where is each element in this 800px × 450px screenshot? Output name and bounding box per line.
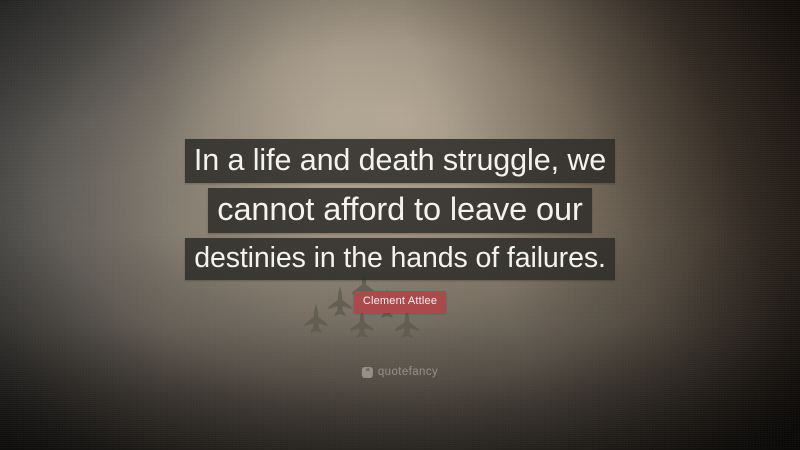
quote-line: cannot afford to leave our bbox=[208, 188, 591, 233]
quotefancy-logo-icon: ❝ bbox=[362, 367, 373, 378]
quote-line: In a life and death struggle, we bbox=[185, 139, 615, 183]
watermark-label: quotefancy bbox=[378, 366, 438, 378]
watermark: ❝ quotefancy bbox=[362, 366, 438, 378]
quote-text-block: In a life and death struggle, we cannot … bbox=[0, 139, 800, 285]
quote-line: destinies in the hands of failures. bbox=[185, 238, 615, 280]
author-attribution-badge: Clement Attlee bbox=[354, 291, 446, 313]
quote-wallpaper: In a life and death struggle, we cannot … bbox=[0, 0, 800, 450]
